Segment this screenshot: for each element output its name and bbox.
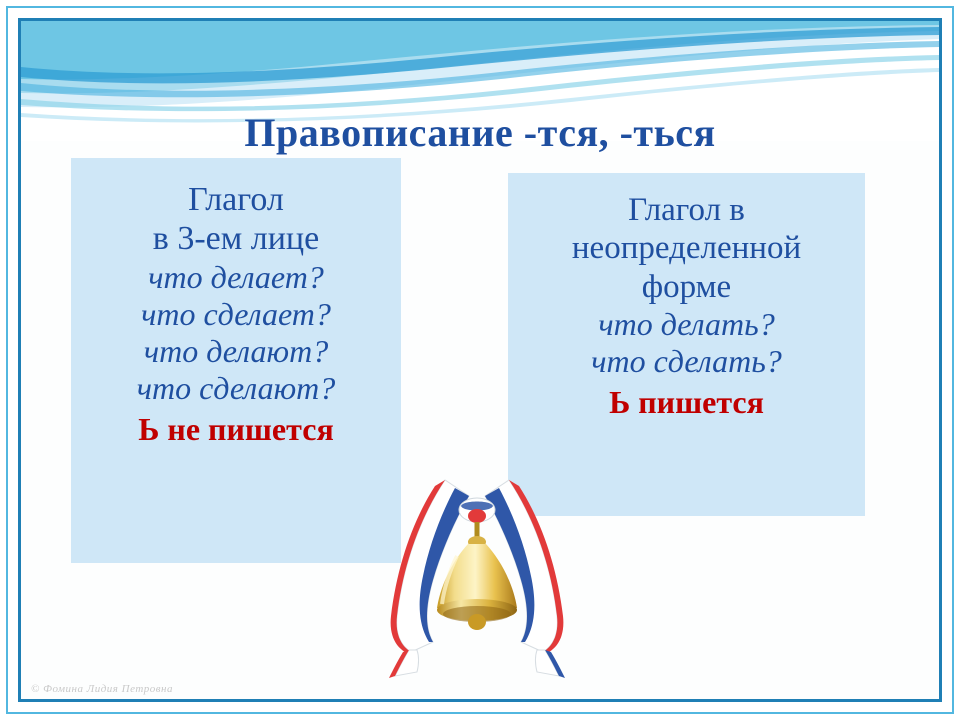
bell-graphic: [337, 476, 617, 691]
right-line-2: неопределенной: [508, 229, 865, 267]
left-line-3: что делает?: [71, 259, 401, 296]
bell-body: [437, 536, 517, 630]
page-title: Правописание -тся, -ться: [21, 109, 939, 156]
school-bell-with-ribbon-icon: [337, 476, 617, 691]
right-line-3: форме: [508, 268, 865, 306]
slide-canvas: Правописание -тся, -ться Глагол в 3-ем л…: [21, 21, 939, 699]
infinitive-box: Глагол в неопределенной форме что делать…: [508, 173, 865, 516]
left-line-6: что сделают?: [71, 370, 401, 407]
left-rule-statement: Ь не пишется: [71, 411, 401, 448]
right-line-4: что делать?: [508, 306, 865, 343]
slide: Правописание -тся, -ться Глагол в 3-ем л…: [0, 0, 960, 720]
copyright-watermark: © Фомина Лидия Петровна: [31, 683, 173, 695]
ribbon-tails: [389, 650, 565, 678]
left-line-5: что делают?: [71, 333, 401, 370]
left-line-2: в 3-ем лице: [71, 219, 401, 258]
right-line-5: что сделать?: [508, 343, 865, 380]
left-line-4: что сделает?: [71, 296, 401, 333]
right-line-1: Глагол в: [508, 191, 865, 229]
right-rule-statement: Ь пишется: [508, 384, 865, 421]
left-line-1: Глагол: [71, 180, 401, 219]
ribbon-bow: [459, 498, 495, 523]
